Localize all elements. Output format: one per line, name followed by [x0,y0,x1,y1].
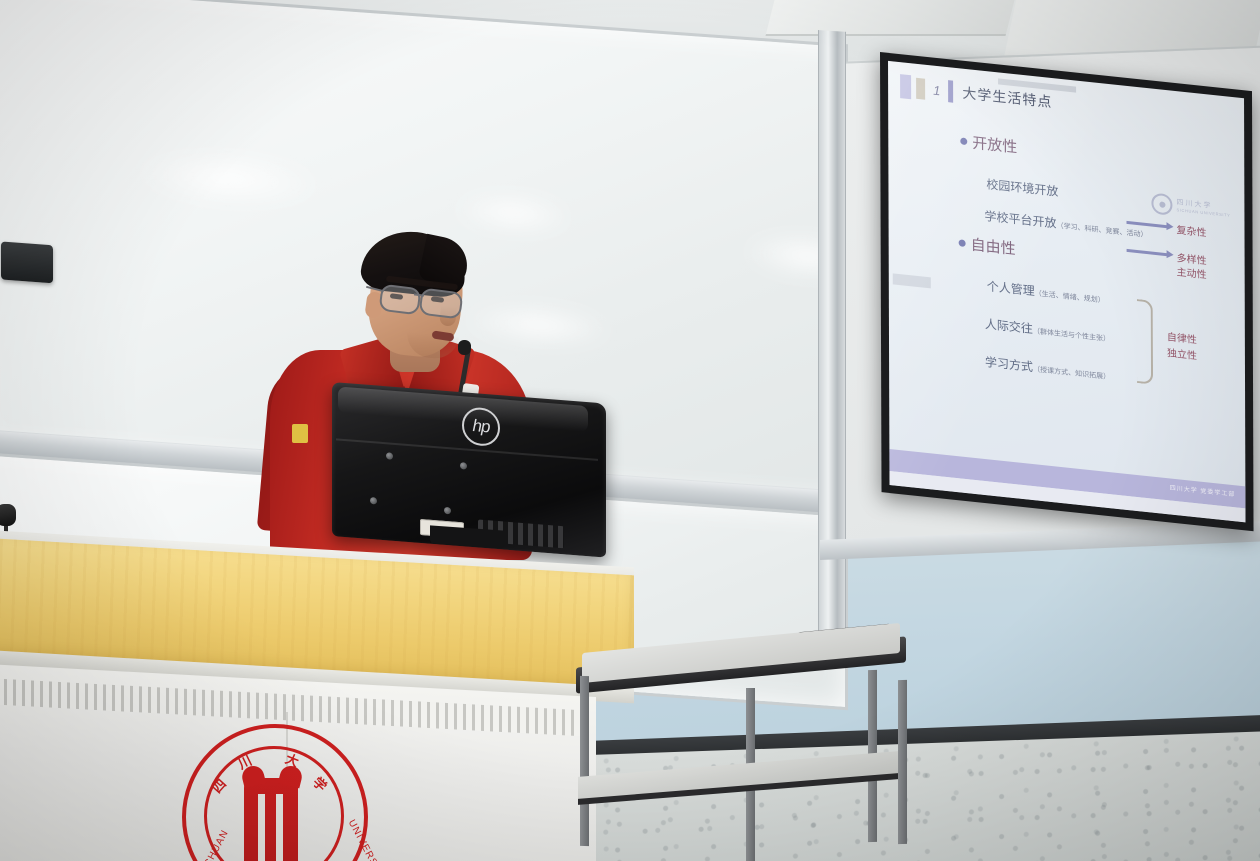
header-block-icon [900,74,911,99]
header-block-icon [948,80,953,103]
classroom-photo: 1 大学生活特点 四川大学 SICHUAN UNIVERSITY 开放性 校园环… [0,0,1260,861]
monitor-screw [460,462,467,470]
microphone-icon [458,340,471,355]
slide-side-tag [893,273,931,288]
ceiling-panel [766,0,1015,36]
slide-line-study-method: 学习方式（授课方式、知识拓展） [985,353,1110,383]
line-main: 人际交往 [985,317,1033,336]
line-main: 个人管理 [987,279,1035,298]
arrow-icon [1127,249,1169,256]
brace-icon [1137,299,1153,385]
emblem-torch-cut [258,794,265,861]
table-leg [580,676,589,846]
line-note: （授课方式、知识拓展） [1033,366,1110,381]
line-note: （生活、情绪、规划） [1035,290,1105,304]
line-note: （学习、科研、竞赛、活动） [1057,223,1148,240]
emblem-torch-cut [276,794,283,861]
monitor-screw [386,452,393,460]
glasses-lens [379,284,422,316]
label-independence: 独立性 [1167,344,1197,362]
slide-heading-freedom: 自由性 [959,232,1016,259]
slide-footer-text: 四川大学 党委学工部 [1170,482,1236,498]
marker-holder-clip [1,242,53,284]
side-table [568,624,920,861]
university-logo-watermark: 四川大学 SICHUAN UNIVERSITY [1151,193,1230,222]
section-number: 1 [930,82,943,98]
slide-line-campus-environment: 校园环境开放 [986,175,1058,200]
line-main: 学校平台开放 [985,209,1057,231]
logo-ring-icon [1151,193,1172,216]
line-note: （群体生活与个性主张） [1033,328,1110,343]
header-block-icon [916,77,925,99]
slide-line-interpersonal: 人际交往（群体生活与个性主张） [985,315,1110,345]
podium-microphone-icon [0,504,16,526]
label-self-discipline: 自律性 [1167,328,1197,346]
glasses-lens [419,288,464,320]
monitor-screw [444,507,451,515]
emblem-torch-icon [244,778,298,861]
logo-text: 四川大学 SICHUAN UNIVERSITY [1176,199,1230,218]
label-complexity: 复杂性 [1176,221,1206,239]
table-leg [898,680,907,844]
label-initiative: 主动性 [1177,263,1207,281]
shirt-logo-patch [292,424,308,443]
slide-line-school-platform: 学校平台开放（学习、科研、竞赛、活动） [985,207,1148,241]
slide-line-personal-management: 个人管理（生活、情绪、规划） [987,277,1105,306]
projection-screen: 1 大学生活特点 四川大学 SICHUAN UNIVERSITY 开放性 校园环… [880,52,1254,531]
glare [453,189,573,238]
glare [133,146,323,212]
monitor-screw [370,497,377,505]
university-emblem: 四 川 大 学 SICHUAN UNIVERSITY [182,724,364,861]
lectern-podium: 四 川 大 学 SICHUAN UNIVERSITY [0,516,646,861]
line-main: 校园环境开放 [986,177,1058,199]
slide-header: 1 大学生活特点 [900,74,1052,114]
slide-heading-openness: 开放性 [960,130,1017,157]
projected-slide: 1 大学生活特点 四川大学 SICHUAN UNIVERSITY 开放性 校园环… [888,61,1245,523]
line-main: 学习方式 [985,355,1033,374]
